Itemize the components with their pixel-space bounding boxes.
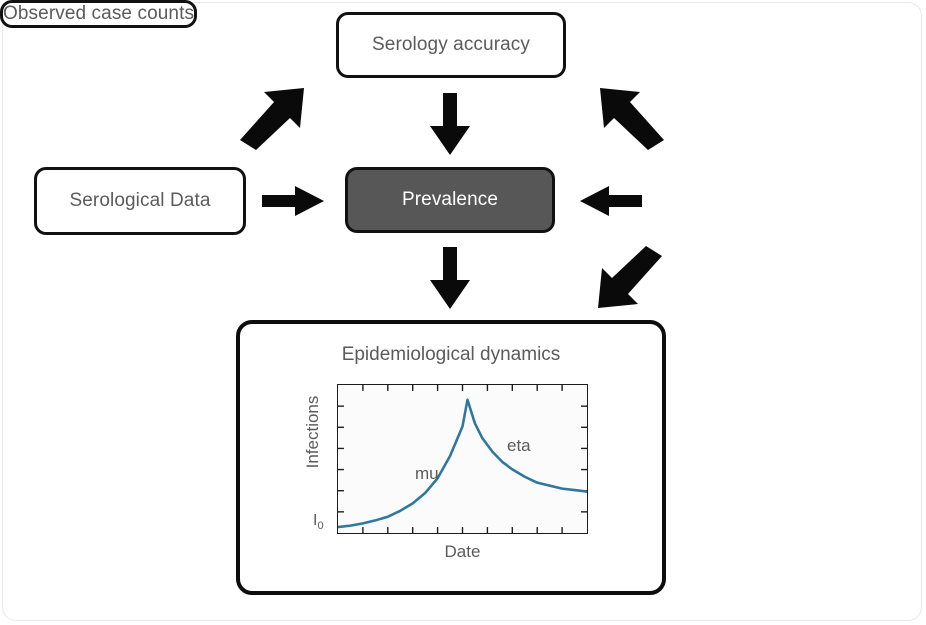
chart-y-tick-label-i0: I0 — [313, 512, 324, 532]
arrow-down-left-icon — [590, 246, 662, 308]
chart-epidemiological-dynamics: Infections I0 mu eta Date — [295, 384, 605, 569]
chart-annotation-mu: mu — [415, 464, 439, 484]
chart-annotation-eta: eta — [507, 436, 531, 456]
arrow-down-icon — [430, 247, 470, 309]
figure-root: Serology accuracy Serological Data Preva… — [0, 0, 926, 625]
arrow-up-left-icon — [592, 88, 664, 150]
chart-plot-area — [337, 384, 588, 534]
panel-title: Epidemiological dynamics — [240, 344, 662, 366]
arrow-left-icon — [580, 186, 642, 216]
chart-series-infections — [338, 400, 587, 527]
panel-epidemiological-dynamics: Epidemiological dynamics Infections I0 m… — [236, 320, 666, 595]
node-serology-accuracy-label: Serology accuracy — [372, 34, 530, 56]
chart-y-axis-label: Infections — [303, 372, 323, 492]
node-observed-case-counts: Observed case counts — [0, 0, 197, 28]
arrow-up-right-icon — [240, 88, 312, 150]
node-prevalence: Prevalence — [345, 167, 555, 233]
node-serology-accuracy: Serology accuracy — [336, 12, 566, 78]
chart-canvas — [338, 385, 587, 533]
arrow-right-icon — [262, 186, 324, 216]
chart-tick-marks — [338, 385, 587, 533]
node-serological-data-label: Serological Data — [69, 190, 210, 212]
node-serological-data: Serological Data — [34, 167, 246, 235]
arrow-down-icon — [430, 93, 470, 155]
node-prevalence-label: Prevalence — [402, 189, 498, 211]
chart-x-axis-label: Date — [337, 542, 588, 562]
node-observed-case-counts-label: Observed case counts — [3, 3, 194, 25]
